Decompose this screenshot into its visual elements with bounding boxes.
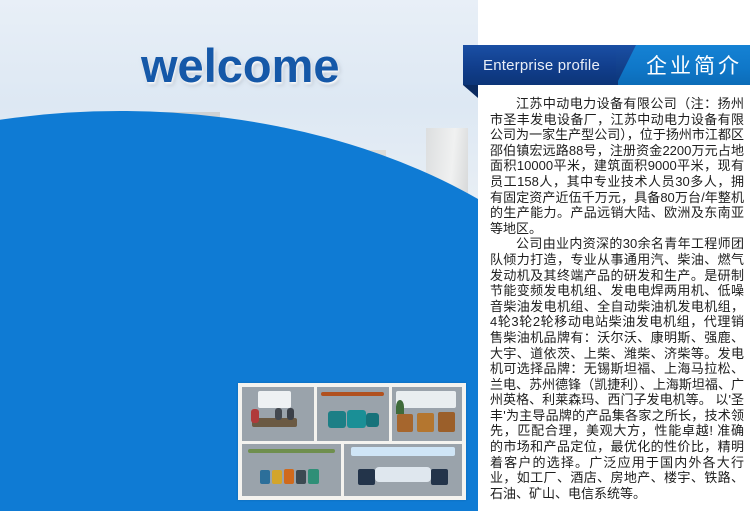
ribbon-english-label: Enterprise profile xyxy=(463,57,600,74)
section-ribbon: Enterprise profile 企业简介 xyxy=(463,45,750,85)
meeting-room-photo xyxy=(242,387,314,441)
ribbon-chinese-segment: 企业简介 xyxy=(618,45,750,85)
profile-paragraph-2: 公司由业内资深的30余名青年工程师团队倾力打造，专业从事通用汽、柴油、燃气发动机… xyxy=(490,236,744,501)
photo-collage xyxy=(238,383,466,500)
office-hall-photo xyxy=(392,387,462,441)
generator-sets-photo xyxy=(317,387,389,441)
boardroom-photo xyxy=(344,444,462,496)
ribbon-english-segment: Enterprise profile xyxy=(463,45,618,85)
ribbon-chinese-label: 企业简介 xyxy=(618,50,742,80)
assembly-workshop-photo xyxy=(242,444,341,496)
profile-paragraph-1: 江苏中动电力设备有限公司（注：扬州市圣丰发电设备厂，江苏中动电力设备有限公司为一… xyxy=(490,96,744,236)
welcome-heading: welcome xyxy=(141,38,340,93)
promo-banner-page: 江苏中动电力设备有限公司 Zhongdong Power Equipment C… xyxy=(0,0,750,511)
profile-text-panel: Enterprise profile 企业简介 江苏中动电力设备有限公司（注：扬… xyxy=(478,0,750,511)
collage-row-bottom xyxy=(242,444,462,496)
collage-row-top xyxy=(242,387,462,441)
company-profile-text: 江苏中动电力设备有限公司（注：扬州市圣丰发电设备厂，江苏中动电力设备有限公司为一… xyxy=(490,96,744,501)
